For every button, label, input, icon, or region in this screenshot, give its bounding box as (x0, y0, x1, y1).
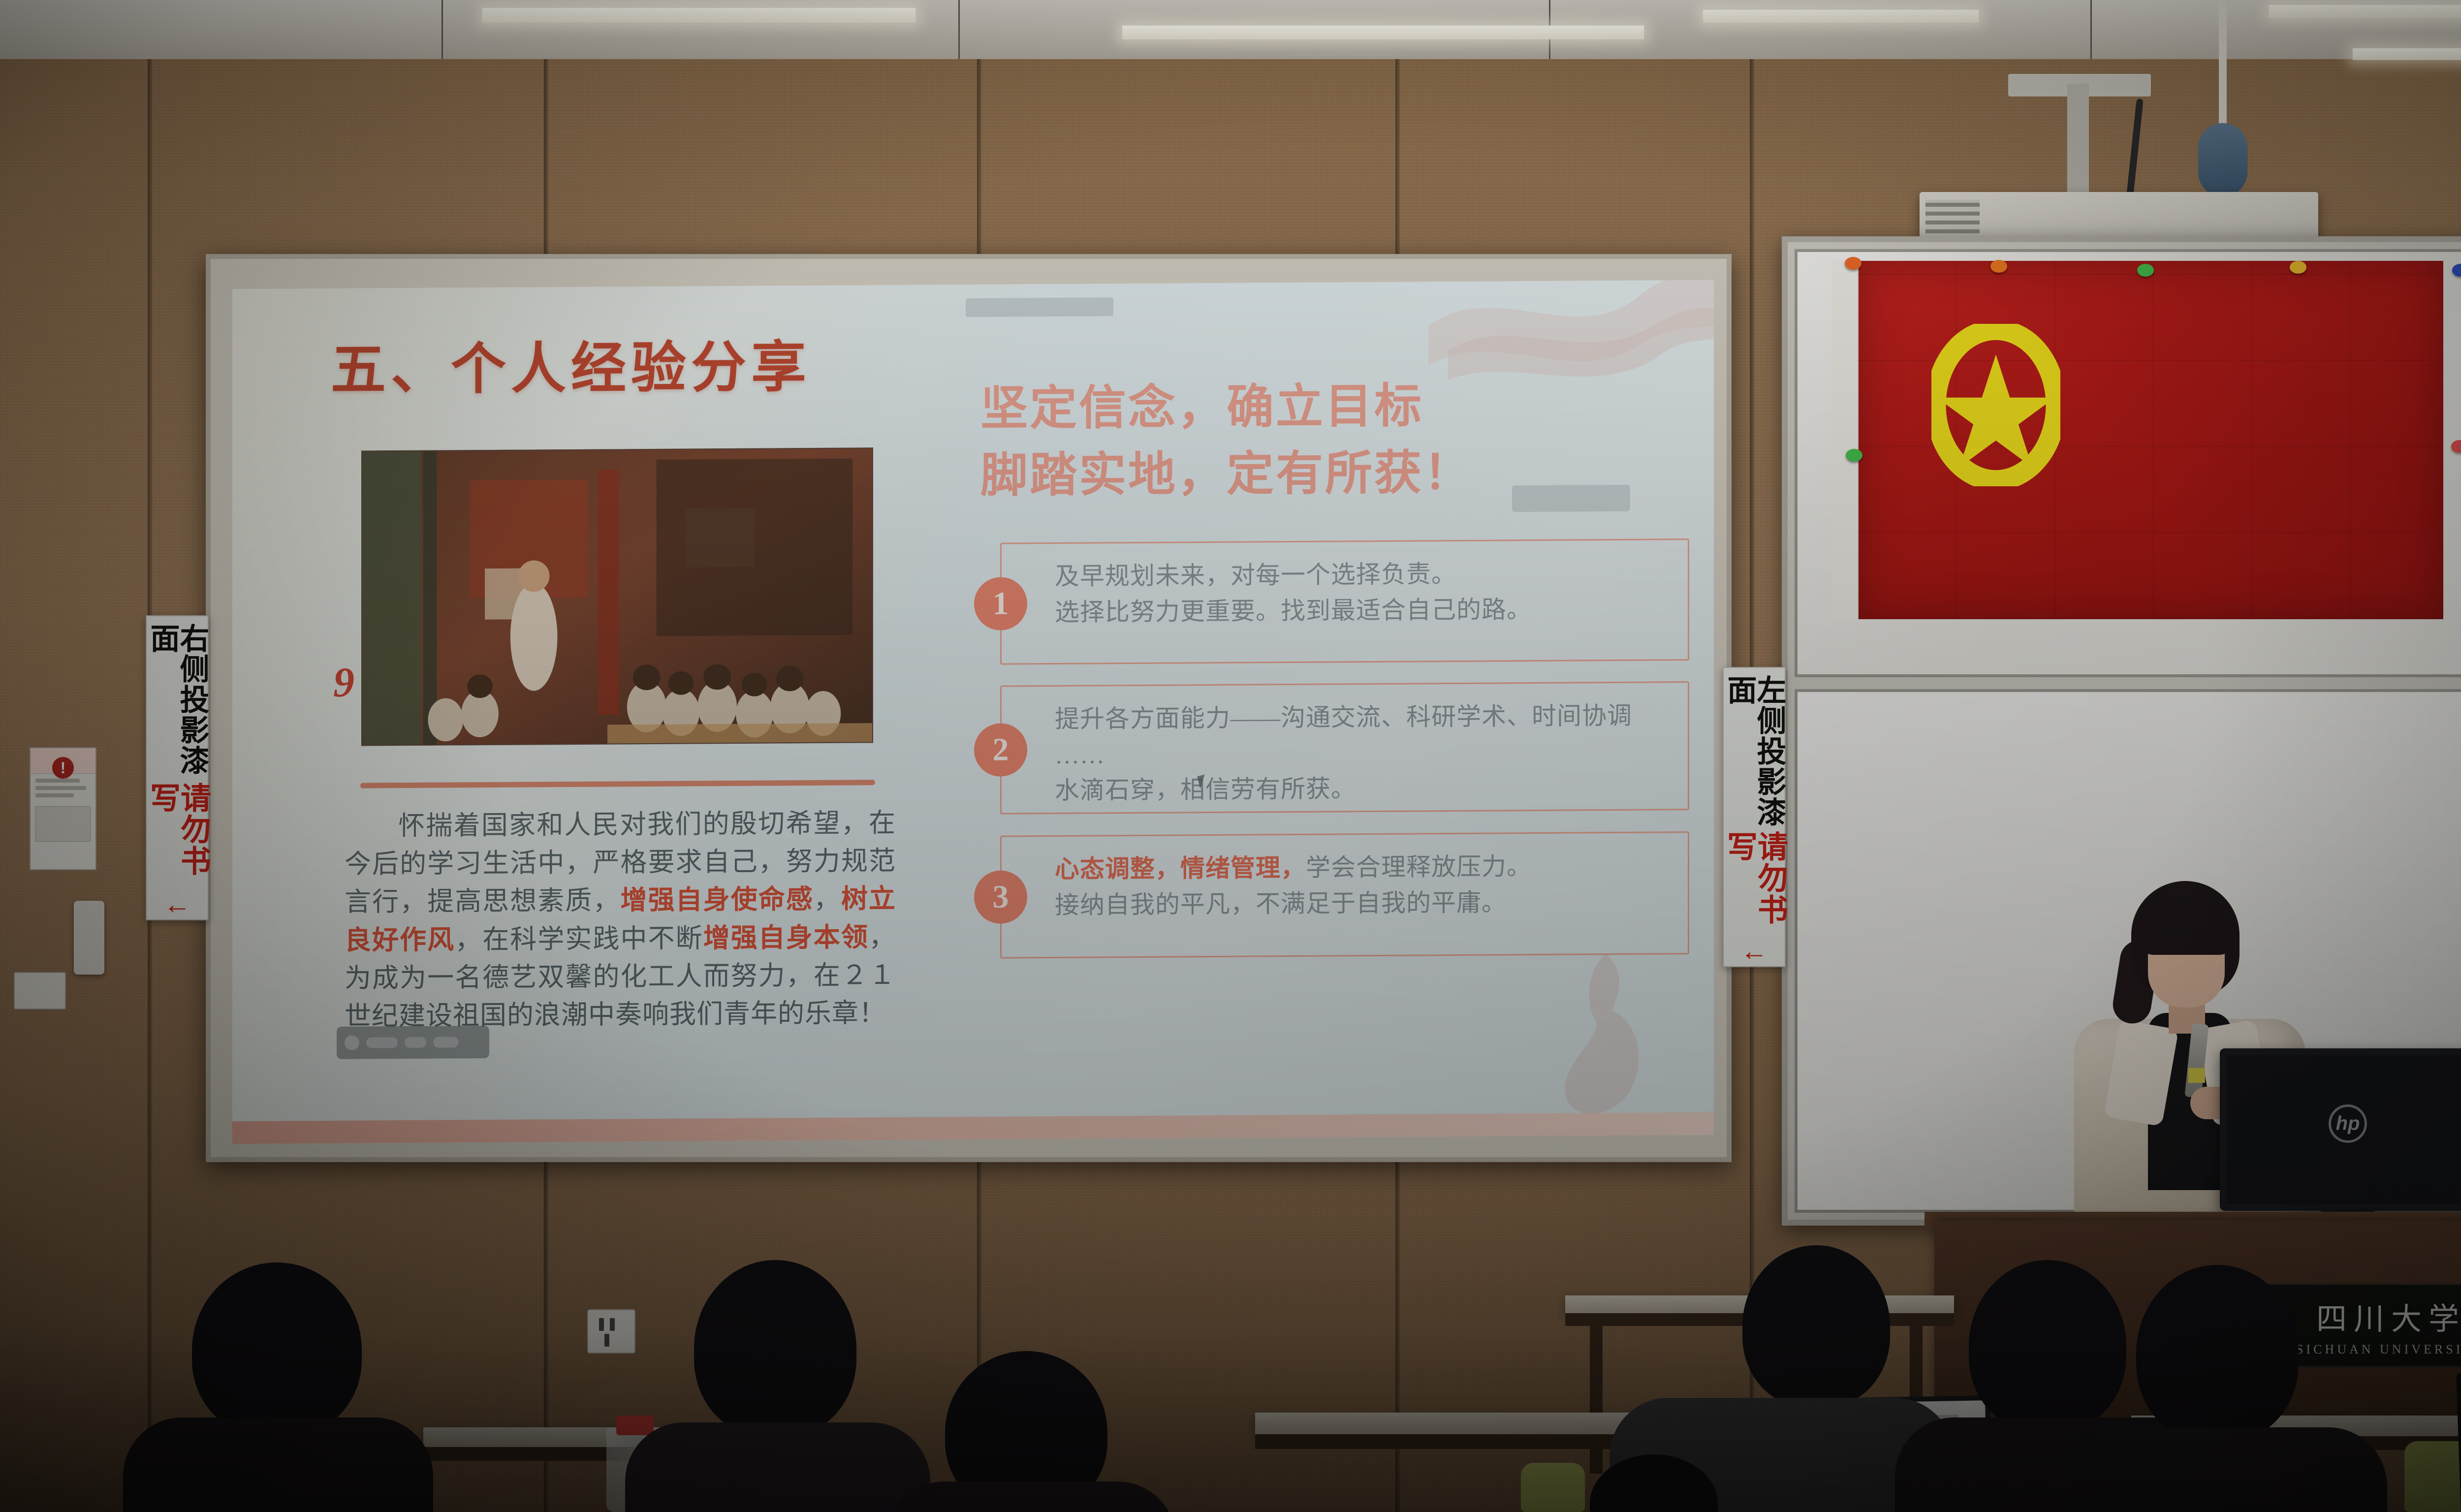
point-number-badge: 3 (974, 870, 1027, 924)
magnet-green[interactable] (2137, 264, 2154, 277)
audience-shoulders (625, 1422, 930, 1512)
ceiling-light (2269, 5, 2461, 18)
magnet-green[interactable] (1846, 449, 1862, 462)
toolbar-button[interactable] (433, 1037, 459, 1047)
point-text-3: 心态调整，情绪管理，学会合理释放压力。 接纳自我的平凡，不满足于自我的平庸。 (1002, 833, 1688, 938)
point-1-line-2: 选择比努力更重要。找到最适合自己的路。 (1055, 591, 1671, 630)
point-number-badge: 2 (974, 723, 1027, 777)
audience-shoulders (123, 1417, 433, 1512)
notice-pictogram (35, 806, 91, 842)
wall-notice-placard: ! (30, 747, 96, 870)
wall-telephone[interactable] (74, 901, 104, 975)
desk-leg (1590, 1326, 1603, 1474)
sign-right-projection-surface: 右侧投影漆面 请勿书写 ← (146, 615, 209, 920)
audience-shoulders (2062, 1427, 2387, 1512)
classroom-chair[interactable] (1521, 1463, 1585, 1512)
hp-monitor (2220, 1048, 2461, 1211)
presentation-toolbar-strip[interactable] (966, 297, 1113, 317)
body-seg-3: ，在科学实践中不断 (455, 923, 703, 954)
floor-power-socket[interactable] (587, 1309, 635, 1354)
youth-league-emblem-icon (1931, 324, 2060, 486)
slide-divider (360, 780, 875, 788)
audience-shoulders (886, 1481, 1176, 1512)
wall-power-outlet[interactable] (14, 972, 66, 1009)
warning-exclamation-icon: ! (52, 757, 74, 779)
lecture-hall-photo: EPSON 五、个人经验分享 (0, 0, 2461, 1512)
slide-title: 五、个人经验分享 (331, 322, 811, 405)
slide-painting-image (361, 447, 873, 746)
point-3-plain: 学会合理释放压力。 (1306, 852, 1532, 882)
point-2-ellipsis: …… (1055, 733, 1671, 773)
point-text-2: 提升各方面能力——沟通交流、科研学术、时间协调 …… 水滴石穿，相信劳有所获。 (1002, 683, 1688, 823)
slide-point-box-3: 3 心态调整，情绪管理，学会合理释放压力。 接纳自我的平凡，不满足于自我的平庸。 (1000, 831, 1689, 959)
toolbar-pen-icon[interactable] (345, 1036, 359, 1050)
point-3-emphasis: 心态调整，情绪管理， (1055, 854, 1306, 883)
plaque-english-name: SICHUAN UNIVERSITY (2296, 1342, 2461, 1357)
presenter-bangs (2139, 907, 2234, 955)
magnet-orange[interactable] (1990, 260, 2007, 273)
slide-point-box-2: 2 提升各方面能力——沟通交流、科研学术、时间协调 …… 水滴石穿，相信劳有所获… (1000, 681, 1689, 815)
sign-left-arrow-icon: ← (163, 893, 191, 915)
slide-point-box-1: 1 及早规划未来，对每一个选择负责。 选择比努力更重要。找到最适合自己的路。 (1000, 538, 1689, 665)
sign-right-arrow-icon: ← (1740, 940, 1768, 962)
communist-youth-league-flag (1858, 261, 2443, 619)
powerpoint-slide[interactable]: 五、个人经验分享 (232, 280, 1714, 1144)
sign-left-projection-surface: 左侧投影漆面 请勿书写 ← (1723, 667, 1786, 967)
ceiling-light (482, 8, 915, 23)
presentation-note-chip[interactable] (1512, 485, 1630, 512)
sign-right-body: 左侧投影漆面 (1725, 675, 1784, 829)
slide-body-paragraph: 怀揣着国家和人民对我们的殷切希望，在今后的学习生活中，严格要求自己，努力规范言行… (345, 804, 896, 1036)
point-2-line-1: 提升各方面能力——沟通交流、科研学术、时间协调 (1055, 697, 1671, 737)
body-emphasis-1: 增强自身使命感 (621, 884, 814, 915)
audience-head (1969, 1260, 2126, 1432)
point-1-line-1: 及早规划未来，对每一个选择负责。 (1055, 555, 1671, 594)
flag-hoist-band (1832, 261, 1859, 619)
audience-head (694, 1260, 856, 1437)
ceiling-light (1122, 26, 1644, 39)
point-3-line-1: 心态调整，情绪管理，学会合理释放压力。 (1055, 848, 1671, 887)
classroom-chair[interactable] (2404, 1441, 2461, 1512)
sign-left-body: 右侧投影漆面 (148, 623, 207, 780)
hp-logo-icon (2329, 1104, 2367, 1143)
audience-head (1742, 1245, 1890, 1408)
whiteboard-upper-panel (1795, 249, 2461, 677)
point-3-line-2: 接纳自我的平凡，不满足于自我的平庸。 (1055, 883, 1671, 923)
toolbar-button[interactable] (405, 1037, 426, 1048)
point-2-line-2: 水滴石穿，相信劳有所获。 (1055, 769, 1671, 808)
plaque-chinese-name: 四川大学 (2316, 1294, 2461, 1338)
projection-screen: 五、个人经验分享 (206, 254, 1732, 1162)
hanging-knob (2198, 123, 2247, 197)
body-emphasis-3: 增强自身本领 (703, 922, 869, 953)
sign-right-warning: 请勿书写 (1724, 831, 1785, 937)
bottle-cap[interactable] (616, 1416, 654, 1435)
audience-head (192, 1262, 362, 1437)
magnet-yellow[interactable] (2290, 261, 2306, 274)
body-seg-2: ， (814, 884, 841, 914)
headline-line-1: 坚定信念，确立目标 (980, 371, 1684, 442)
slide-footer-bar (232, 1112, 1714, 1144)
point-number-badge: 1 (974, 577, 1027, 630)
magnet-orange[interactable] (1845, 257, 1862, 270)
sign-left-warning: 请勿书写 (147, 782, 208, 890)
projector-mount-pole (2067, 84, 2089, 197)
ceiling-light (1703, 10, 1979, 23)
toolbar-slider[interactable] (366, 1037, 398, 1048)
presentation-control-toolbar[interactable] (337, 1026, 489, 1059)
slide-page-number: 9 (333, 658, 354, 707)
silhouette-decoration (1542, 953, 1670, 1116)
point-text-1: 及早规划未来，对每一个选择负责。 选择比努力更重要。找到最适合自己的路。 (1002, 540, 1688, 645)
microphone-label-tag (2188, 1068, 2205, 1083)
audience-head (2136, 1265, 2299, 1442)
ceiling-light (2353, 48, 2461, 60)
